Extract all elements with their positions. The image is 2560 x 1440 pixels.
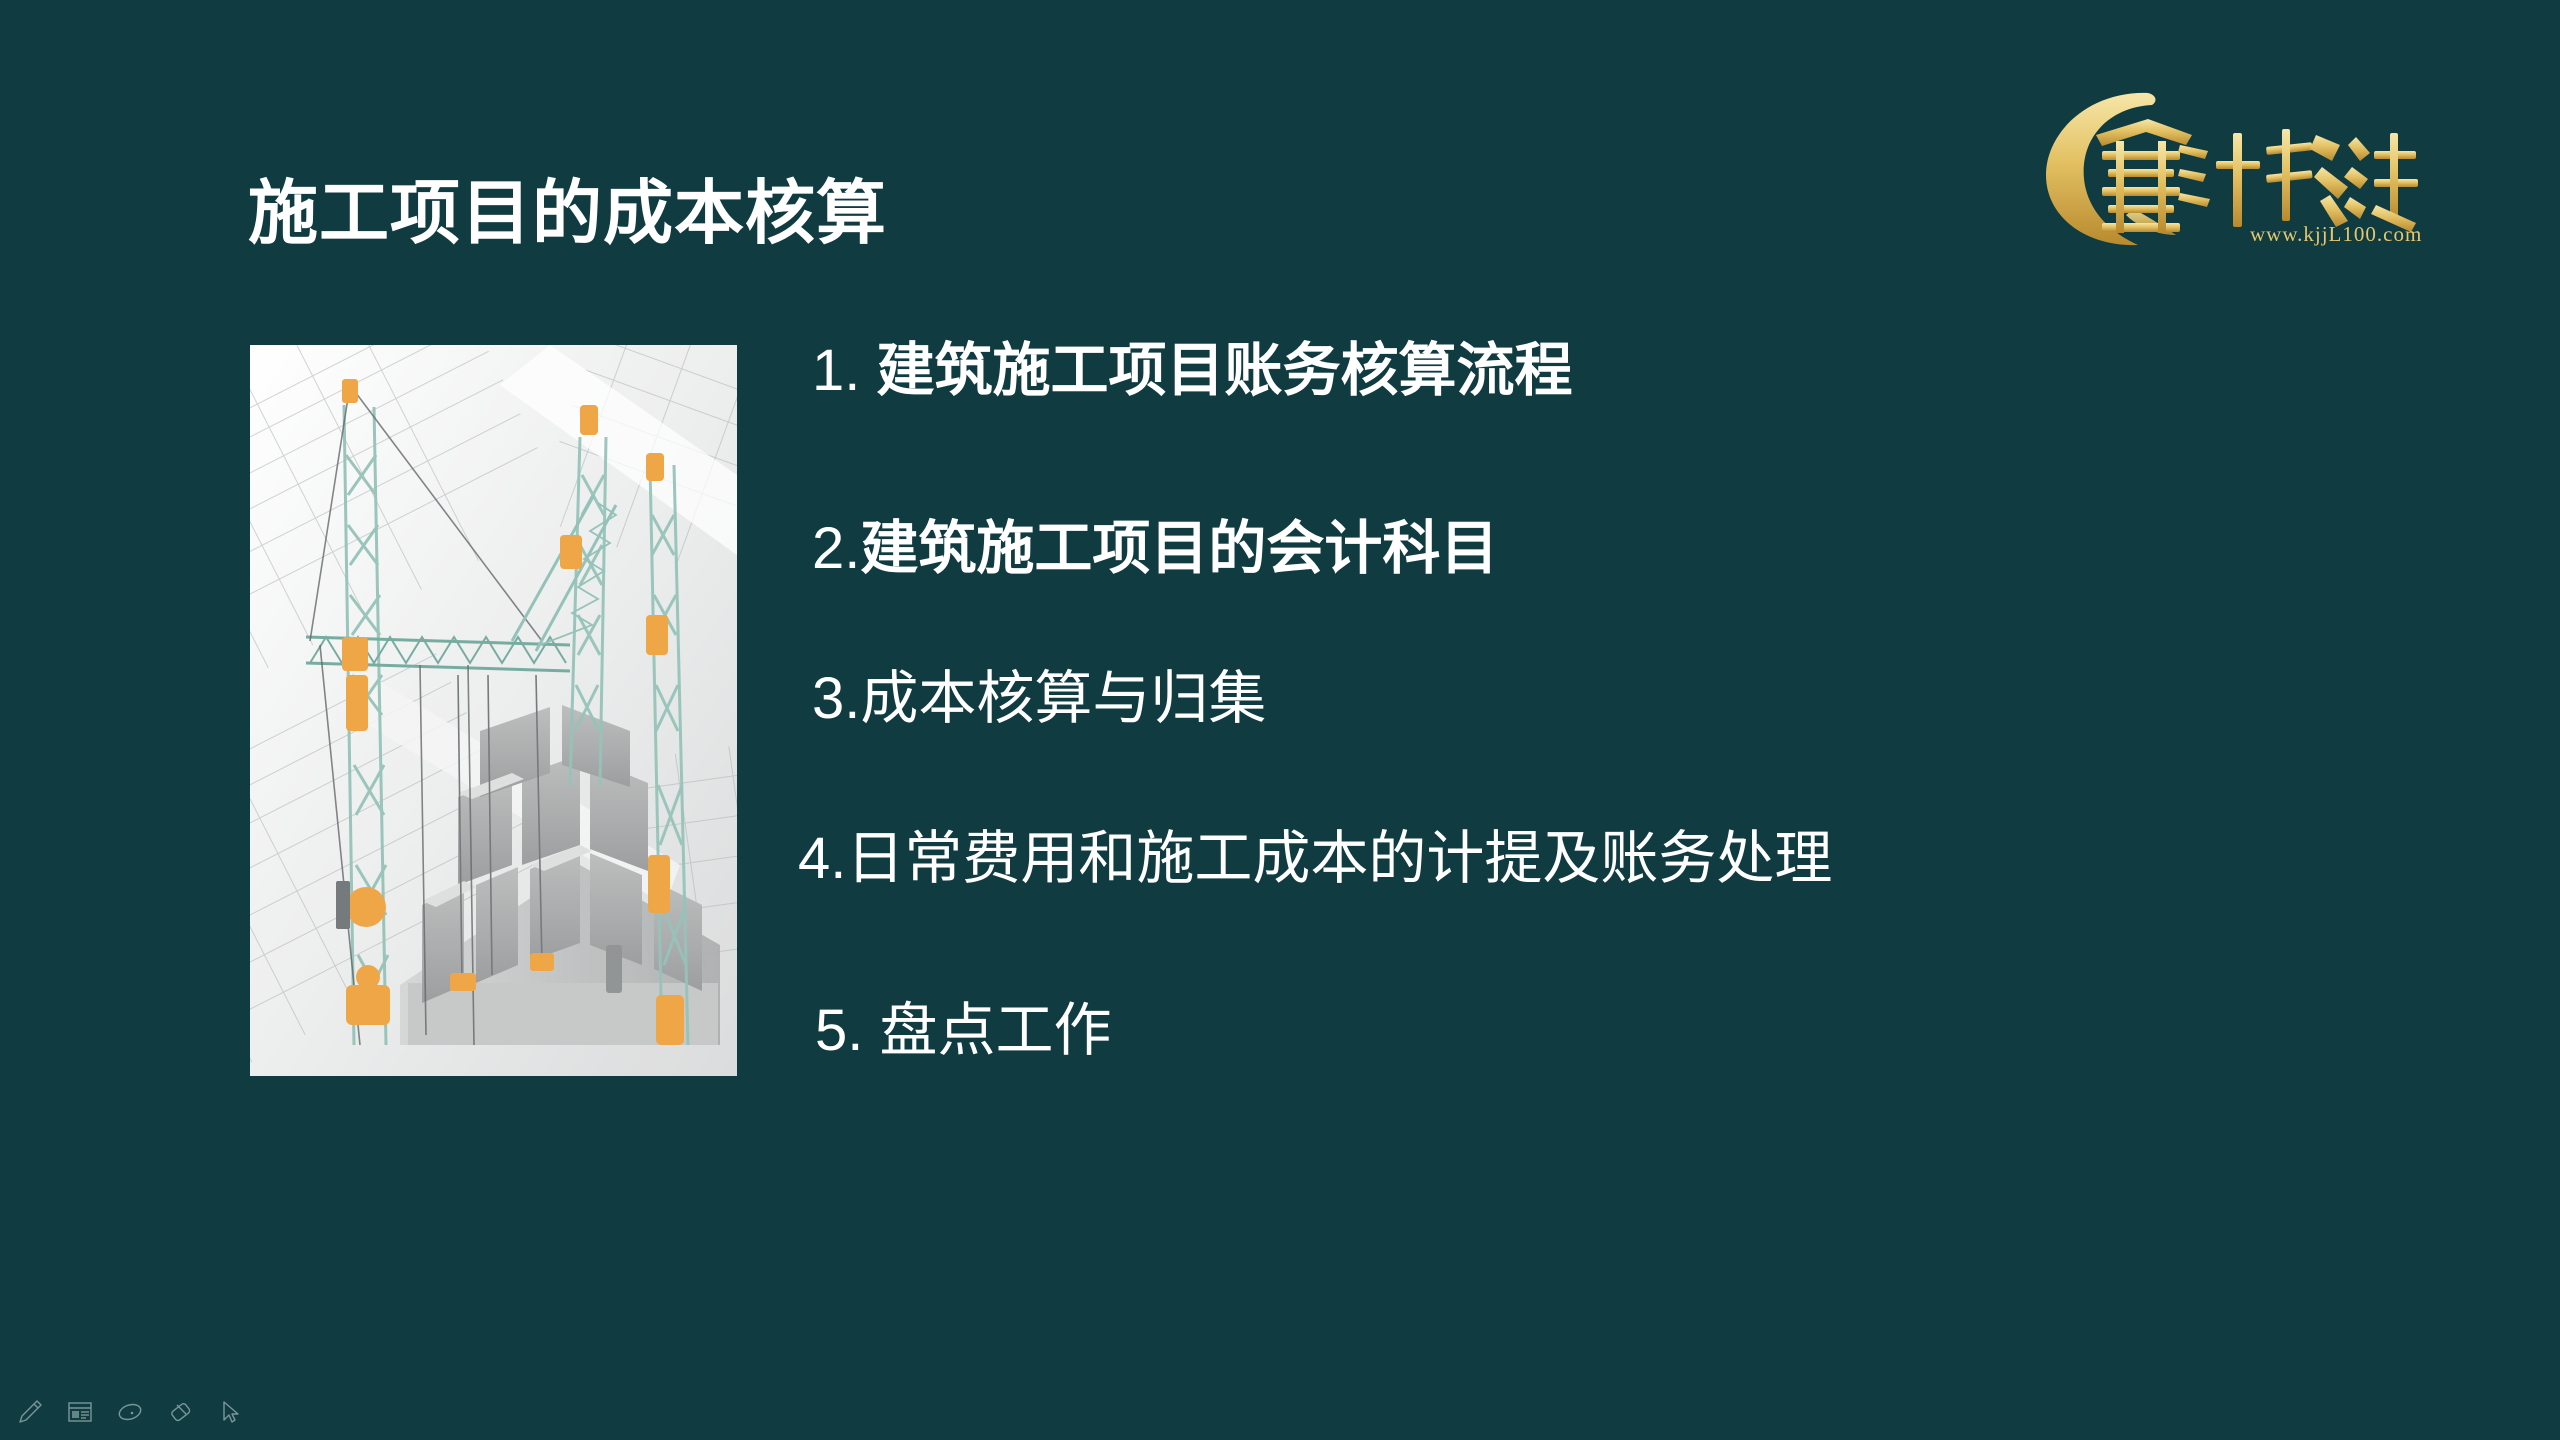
list-item-number: 4.	[798, 826, 846, 891]
presentation-slide: 施工项目的成本核算	[0, 0, 2560, 1440]
page-title: 施工项目的成本核算	[248, 178, 887, 248]
ellipse-icon[interactable]	[112, 1394, 148, 1430]
list-item-label: 日常费用和施工成本的计提及账务处理	[846, 826, 1832, 891]
list-item-label: 建筑施工项目的会计科目	[860, 516, 1498, 581]
list-item: 3.成本核算与归集	[812, 670, 1266, 728]
list-item-label: 建筑施工项目账务核算流程	[877, 338, 1573, 403]
cursor-icon[interactable]	[212, 1394, 248, 1430]
logo-url-text: www.kjjL100.com	[2250, 222, 2422, 246]
list-item-number: 5.	[815, 998, 880, 1063]
list-item: 5. 盘点工作	[815, 1002, 1112, 1060]
list-item: 4.日常费用和施工成本的计提及账务处理	[798, 830, 1832, 888]
list-item-label: 盘点工作	[880, 998, 1112, 1063]
list-item: 2.建筑施工项目的会计科目	[812, 520, 1498, 578]
eraser-icon[interactable]	[162, 1394, 198, 1430]
list-item: 1. 建筑施工项目账务核算流程	[812, 342, 1573, 400]
list-item-number: 2.	[812, 516, 860, 581]
list-item-label: 成本核算与归集	[860, 666, 1266, 731]
construction-site-image	[250, 345, 737, 1076]
annotation-toolbar	[0, 1384, 300, 1440]
brand-logo: www.kjjL100.com	[2030, 75, 2425, 250]
pen-icon[interactable]	[12, 1394, 48, 1430]
list-item-number: 3.	[812, 666, 860, 731]
screenshot-icon[interactable]	[62, 1394, 98, 1430]
list-item-number: 1.	[812, 338, 877, 403]
